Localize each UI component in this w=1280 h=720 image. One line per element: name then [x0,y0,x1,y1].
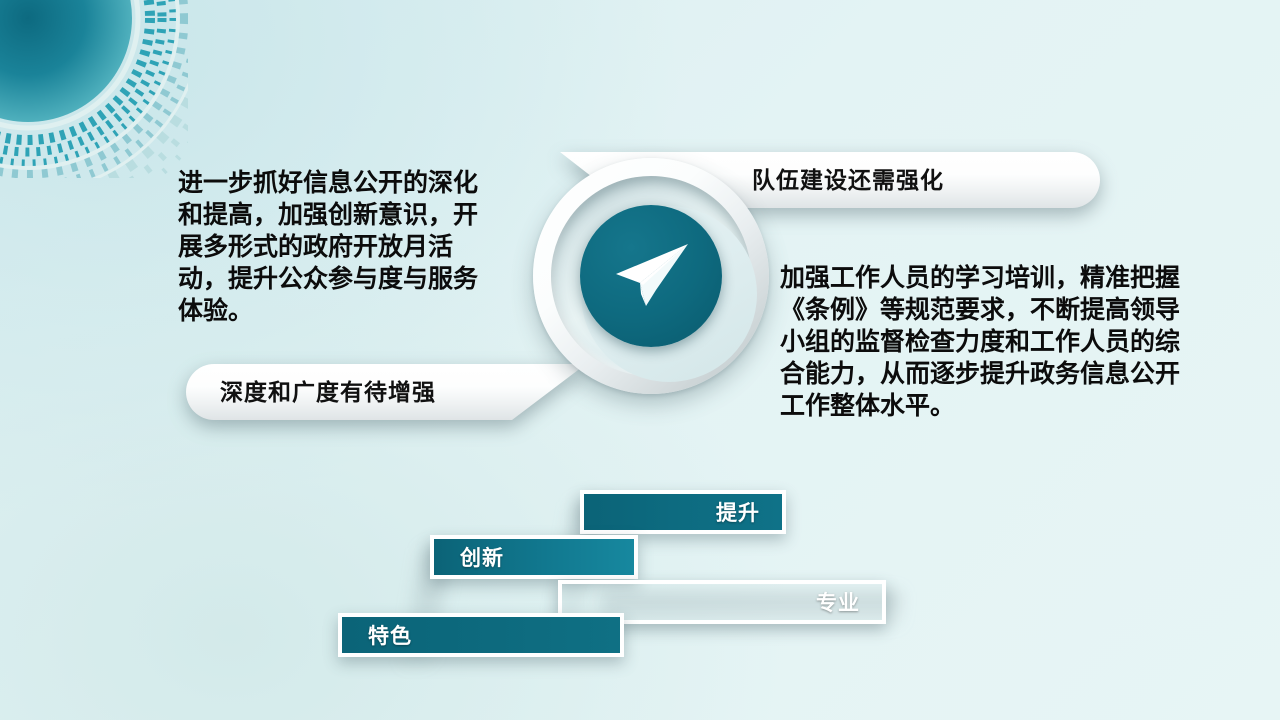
step-bar-tisheng[interactable]: 提升 [580,490,786,534]
step-bar-tese[interactable]: 特色 [338,613,624,657]
mandala-corner-decoration [0,0,188,178]
step-bar-label: 特色 [368,620,412,650]
step-bar-chuangxin[interactable]: 创新 [430,535,638,579]
center-ring [533,158,769,394]
step-bar-label: 创新 [460,542,504,572]
step-bar-label: 提升 [716,497,760,527]
banner-left-label: 深度和广度有待增强 [220,364,436,420]
left-body-paragraph: 进一步抓好信息公开的深化和提高，加强创新意识，开展多形式的政府开放月活动，提升公… [178,167,490,327]
banner-top-label: 队伍建设还需强化 [752,152,944,208]
paper-plane-icon [610,240,692,312]
center-disc[interactable] [580,205,722,347]
banner-depth-breadth[interactable]: 深度和广度有待增强 [186,364,586,420]
step-bar-label: 专业 [816,587,860,617]
right-body-paragraph: 加强工作人员的学习培训，精准把握《条例》等规范要求，不断提高领导小组的监督检查力… [780,262,1200,422]
slide-canvas: 进一步抓好信息公开的深化和提高，加强创新意识，开展多形式的政府开放月活动，提升公… [0,0,1280,720]
